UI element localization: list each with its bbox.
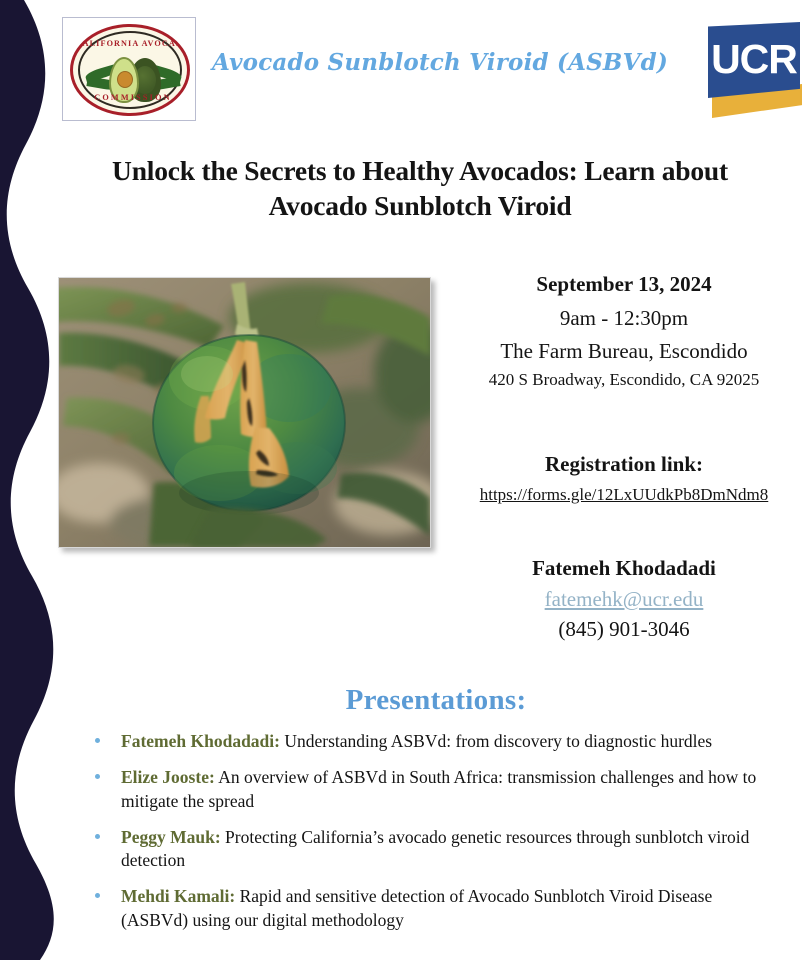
presentations-list: Fatemeh Khodadadi: Understanding ASBVd: … <box>86 730 778 945</box>
list-item: Peggy Mauk: Protecting California’s avoc… <box>86 826 778 873</box>
script-subtitle: Avocado Sunblotch Viroid (ASBVd) <box>200 49 680 76</box>
page-title: Unlock the Secrets to Healthy Avocados: … <box>86 154 754 224</box>
avocado-pit-icon <box>117 71 133 88</box>
ucr-logo-text: UCR <box>711 39 797 80</box>
contact-block: Fatemeh Khodadadi fatemehk@ucr.edu (845)… <box>440 556 808 642</box>
avocado-photo-illustration <box>59 278 430 547</box>
flyer-page: CALIFORNIA AVOCADO COMMISSION UCR Avocad… <box>0 0 808 960</box>
california-avocado-commission-logo: CALIFORNIA AVOCADO COMMISSION <box>62 17 196 121</box>
registration-label: Registration link: <box>440 452 808 477</box>
registration-link[interactable]: https://forms.gle/12LxUUdkPb8DmNdm8 <box>480 485 769 504</box>
ucr-logo-blue-band: UCR <box>708 22 800 98</box>
bullet-icon <box>95 893 100 898</box>
contact-phone: (845) 901-3046 <box>440 617 808 642</box>
presentations-heading: Presentations: <box>86 684 786 717</box>
event-venue: The Farm Bureau, Escondido <box>440 339 808 364</box>
registration-block: Registration link: https://forms.gle/12L… <box>440 452 808 505</box>
presentation-speaker: Fatemeh Khodadadi: <box>121 731 280 751</box>
bullet-icon <box>95 774 100 779</box>
presentation-speaker: Elize Jooste: <box>121 767 215 787</box>
cac-logo-bottom-text: COMMISSION <box>73 94 190 102</box>
list-item: Mehdi Kamali: Rapid and sensitive detect… <box>86 885 778 932</box>
presentation-description: Understanding ASBVd: from discovery to d… <box>280 731 712 751</box>
event-date: September 13, 2024 <box>440 272 808 297</box>
cac-logo-oval: CALIFORNIA AVOCADO COMMISSION <box>70 24 190 116</box>
event-details: September 13, 2024 9am - 12:30pm The Far… <box>440 272 808 390</box>
event-address: 420 S Broadway, Escondido, CA 92025 <box>440 370 808 390</box>
contact-email-link[interactable]: fatemehk@ucr.edu <box>545 587 704 612</box>
list-item: Elize Jooste: An overview of ASBVd in So… <box>86 766 778 813</box>
presentation-speaker: Mehdi Kamali: <box>121 886 235 906</box>
event-time: 9am - 12:30pm <box>440 306 808 331</box>
presentation-speaker: Peggy Mauk: <box>121 827 221 847</box>
ucr-logo: UCR <box>708 22 804 120</box>
header: CALIFORNIA AVOCADO COMMISSION UCR Avocad… <box>0 0 808 128</box>
presentation-description: An overview of ASBVd in South Africa: tr… <box>121 767 756 810</box>
bullet-icon <box>95 834 100 839</box>
list-item: Fatemeh Khodadadi: Understanding ASBVd: … <box>86 730 778 753</box>
cac-logo-top-text: CALIFORNIA AVOCADO <box>73 40 190 48</box>
bullet-icon <box>95 738 100 743</box>
contact-name: Fatemeh Khodadadi <box>440 556 808 581</box>
avocado-sunblotch-photo <box>58 277 431 548</box>
